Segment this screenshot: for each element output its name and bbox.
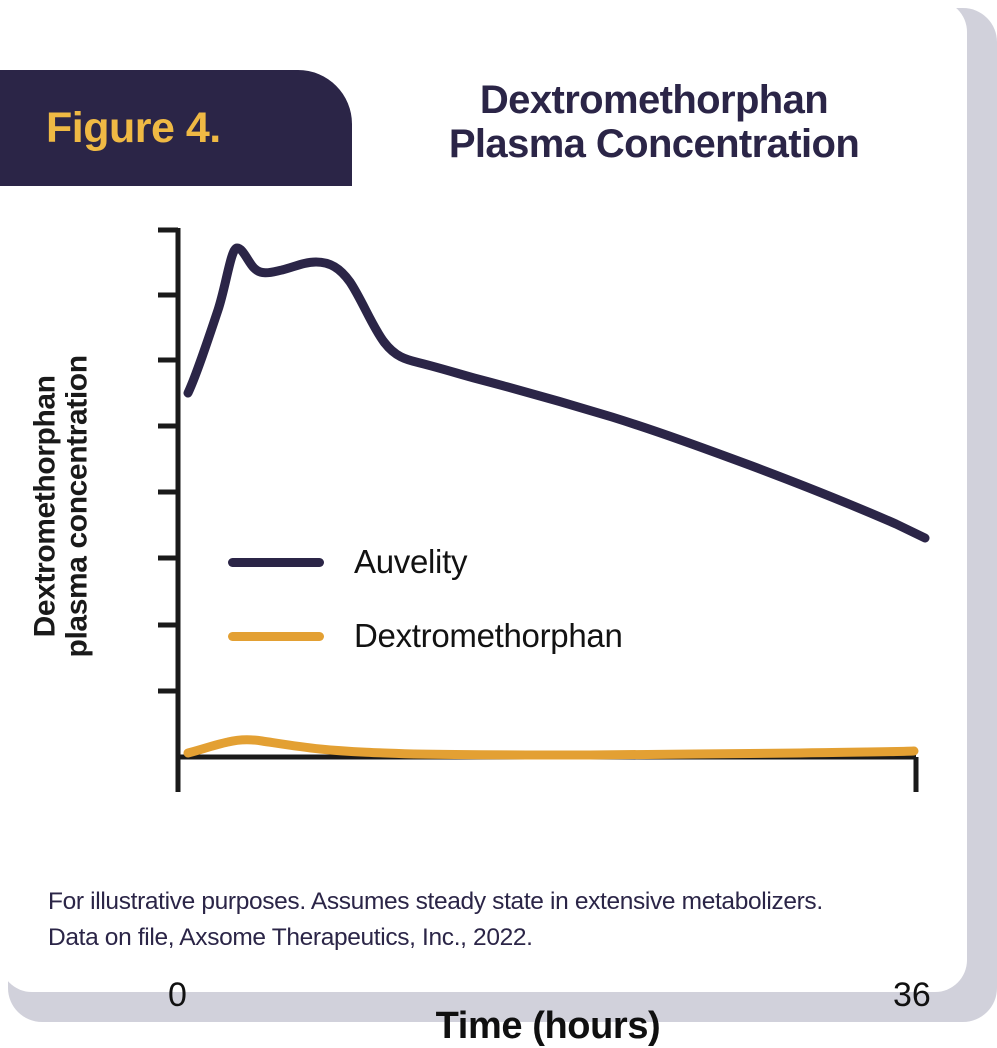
chart-title-line-1: Dextromethorphan — [360, 78, 948, 122]
y-axis-ticks — [158, 230, 178, 691]
chart-plot-area: Dextromethorphan plasma concentration Au… — [0, 200, 967, 820]
legend-swatch-dextromethorphan-icon — [228, 632, 324, 641]
figure-number-label: Figure 4. — [46, 107, 221, 150]
chart-title: Dextromethorphan Plasma Concentration — [360, 78, 948, 166]
figure-number-badge: Figure 4. — [0, 70, 352, 186]
footnote-line-1: For illustrative purposes. Assumes stead… — [48, 884, 938, 920]
legend-label-auvelity: Auvelity — [354, 543, 467, 581]
chart-title-line-2: Plasma Concentration — [360, 122, 948, 166]
y-axis-title-line-2: plasma concentration — [62, 296, 94, 716]
x-axis-ticks — [178, 757, 916, 792]
chart-svg — [0, 200, 967, 820]
legend-item-dextromethorphan: Dextromethorphan — [228, 599, 748, 673]
legend-label-dextromethorphan: Dextromethorphan — [354, 617, 623, 655]
legend-item-auvelity: Auvelity — [228, 525, 748, 599]
figure-card: Figure 4. Dextromethorphan Plasma Concen… — [0, 0, 967, 992]
chart-legend: Auvelity Dextromethorphan — [228, 525, 748, 673]
figure-footnote: For illustrative purposes. Assumes stead… — [48, 884, 938, 955]
y-axis-title-line-1: Dextromethorphan — [30, 296, 62, 716]
series-line-auvelity — [188, 248, 925, 538]
footnote-line-2: Data on file, Axsome Therapeutics, Inc.,… — [48, 920, 938, 956]
legend-swatch-auvelity-icon — [228, 558, 324, 567]
series-line-dextromethorphan — [188, 740, 914, 755]
figure-root: Figure 4. Dextromethorphan Plasma Concen… — [0, 0, 997, 1022]
y-axis-title: Dextromethorphan plasma concentration — [30, 296, 95, 716]
x-axis-title: Time (hours) — [178, 1005, 918, 1048]
